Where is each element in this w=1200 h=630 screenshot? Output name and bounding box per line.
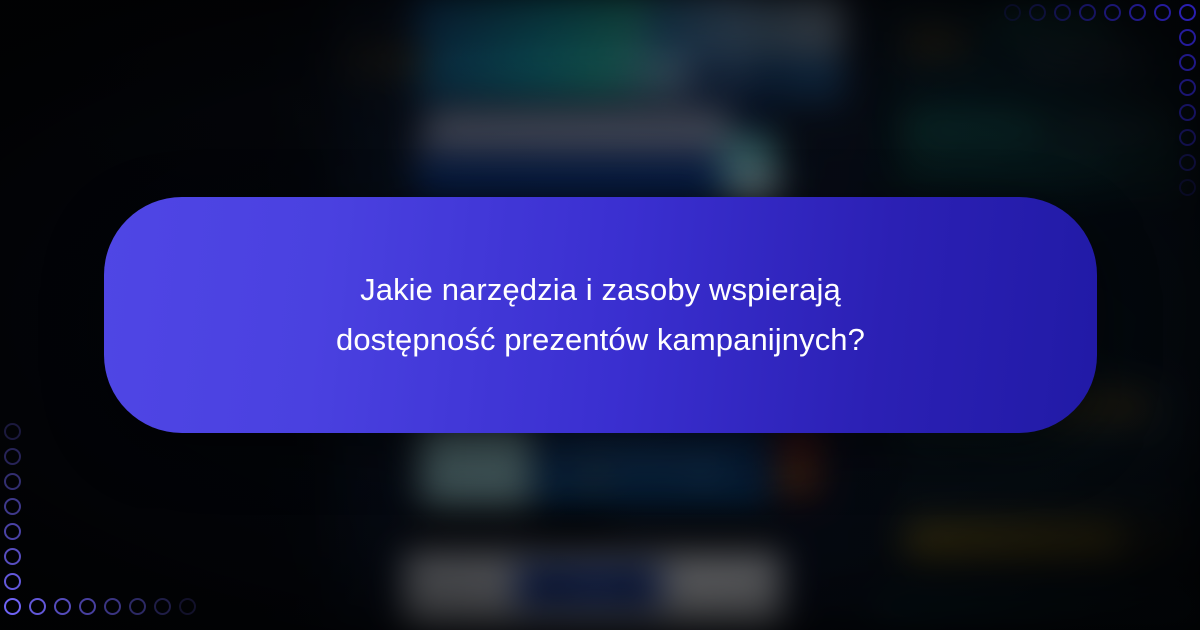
decorative-dot — [1154, 4, 1171, 21]
decorative-dot — [1179, 79, 1196, 96]
decorative-dot — [154, 598, 171, 615]
decorative-dot — [4, 423, 21, 440]
question-text: Jakie narzędzia i zasoby wspierają dostę… — [336, 265, 865, 365]
decorative-dot — [129, 598, 146, 615]
decorative-dot — [1029, 4, 1046, 21]
decorative-dot — [4, 573, 21, 590]
decorative-dot — [4, 498, 21, 515]
decorative-dot — [179, 598, 196, 615]
decorative-dot — [1129, 4, 1146, 21]
screenshot-canvas: Jakie narzędzia i zasoby wspierają dostę… — [0, 0, 1200, 630]
decorative-dot — [1179, 154, 1196, 171]
decorative-dot — [1054, 4, 1071, 21]
decorative-dot — [4, 448, 21, 465]
decorative-dot — [4, 598, 21, 615]
decorative-dot — [1179, 4, 1196, 21]
decorative-dot — [4, 473, 21, 490]
decorative-dot — [1179, 104, 1196, 121]
decorative-dot — [79, 598, 96, 615]
decorative-dot — [54, 598, 71, 615]
decorative-dot — [1004, 4, 1021, 21]
decorative-dot — [1079, 4, 1096, 21]
decorative-dot — [29, 598, 46, 615]
decorative-dot — [1179, 129, 1196, 146]
decorative-dot — [104, 598, 121, 615]
decorative-dot — [1179, 179, 1196, 196]
question-card: Jakie narzędzia i zasoby wspierają dostę… — [104, 197, 1097, 433]
decorative-dot — [4, 548, 21, 565]
decorative-dot — [1179, 29, 1196, 46]
decorative-dot — [4, 523, 21, 540]
decorative-dot — [1104, 4, 1121, 21]
decorative-dot — [1179, 54, 1196, 71]
